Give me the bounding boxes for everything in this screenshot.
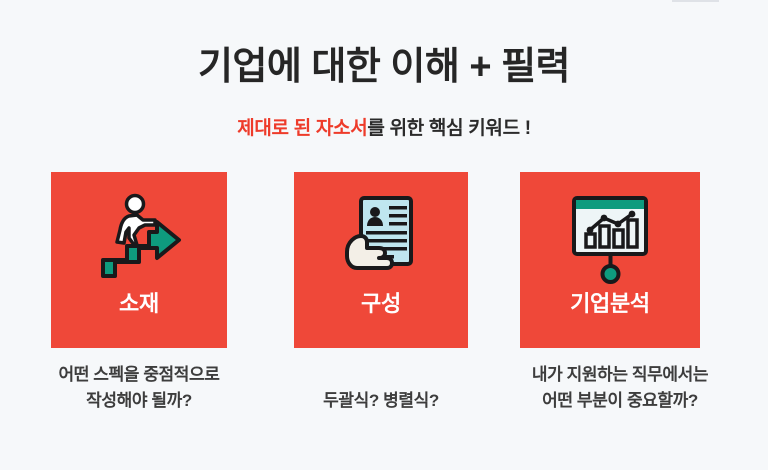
caption-guseong: 두괄식? 병렬식? [272, 388, 490, 414]
person-climbing-stairs-arrow-icon [93, 192, 185, 284]
card-label-guseong: 구성 [361, 290, 401, 318]
hand-holding-resume-icon [335, 192, 427, 284]
subtitle-accent-text: 제대로 된 자소서 [237, 118, 367, 139]
caption-line: 어떤 부분이 중요할까? [482, 388, 758, 414]
card-guseong[interactable]: 구성 [294, 172, 468, 348]
page-title: 기업에 대한 이해 + 필력 [0, 44, 768, 90]
caption-gieopbunseok: 내가 지원하는 직무에서는 어떤 부분이 중요할까? [482, 362, 758, 414]
caption-line: 내가 지원하는 직무에서는 [482, 362, 758, 388]
slide-canvas: 기업에 대한 이해 + 필력 제대로 된 자소서를 위한 핵심 키워드 ! 소재 [0, 0, 768, 470]
subtitle-rest-text: 를 위한 핵심 키워드 ! [367, 118, 530, 139]
caption-line: 작성해야 될까? [8, 388, 270, 414]
caption-soje: 어떤 스펙을 중점적으로 작성해야 될까? [8, 362, 270, 414]
card-soje[interactable]: 소재 [51, 172, 227, 348]
card-row: 소재 [0, 172, 768, 348]
card-label-gieopbunseok: 기업분석 [570, 290, 650, 318]
card-gieopbunseok[interactable]: 기업분석 [520, 172, 700, 348]
top-divider-line [672, 0, 719, 2]
caption-line: 두괄식? 병렬식? [272, 388, 490, 414]
caption-line: 어떤 스펙을 중점적으로 [8, 362, 270, 388]
presentation-bar-chart-icon [564, 192, 656, 284]
page-subtitle: 제대로 된 자소서를 위한 핵심 키워드 ! [0, 116, 768, 142]
card-label-soje: 소재 [119, 290, 159, 318]
caption-row: 어떤 스펙을 중점적으로 작성해야 될까? 두괄식? 병렬식? 내가 지원하는 … [0, 362, 768, 432]
